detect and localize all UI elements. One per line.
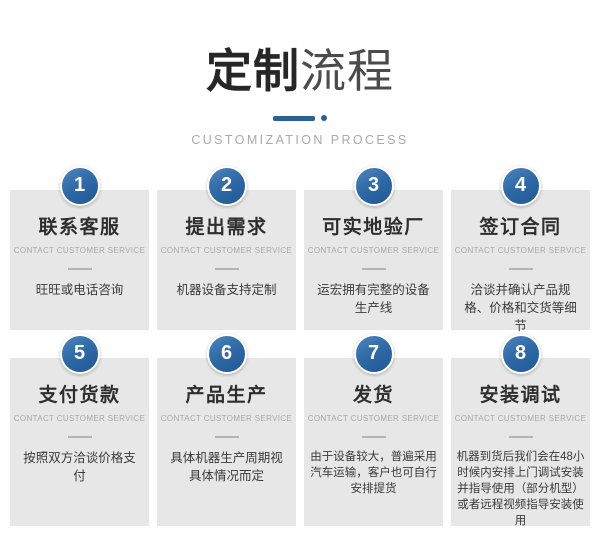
- step-number-badge: 3: [354, 166, 394, 206]
- page-header: 定制流程 CUSTOMIZATION PROCESS: [0, 0, 600, 147]
- process-step-card-2: 2 提出需求 CONTACT CUSTOMER SERVICE 机器设备支持定制: [157, 190, 296, 330]
- step-rule: [509, 436, 533, 438]
- page-title: 定制流程: [0, 42, 600, 100]
- step-rule: [215, 436, 239, 438]
- step-number-badge: 2: [207, 166, 247, 206]
- divider-bar-icon: [273, 116, 315, 121]
- step-body: 洽谈并确认产品规格、价格和交货等细节: [451, 281, 590, 335]
- step-body: 按照双方洽谈价格支付: [10, 449, 149, 485]
- step-en-label: CONTACT CUSTOMER SERVICE: [10, 245, 149, 256]
- step-number-badge: 1: [60, 166, 100, 206]
- customization-process-banner: 定制流程 CUSTOMIZATION PROCESS 1 联系客服 CONTAC…: [0, 0, 600, 539]
- step-en-label: CONTACT CUSTOMER SERVICE: [451, 245, 590, 256]
- step-rule: [509, 268, 533, 270]
- process-step-card-8: 8 安装调试 CONTACT CUSTOMER SERVICE 机器到货后我们会…: [451, 358, 590, 526]
- step-rule: [362, 436, 386, 438]
- process-step-card-4: 4 签订合同 CONTACT CUSTOMER SERVICE 洽谈并确认产品规…: [451, 190, 590, 330]
- step-en-label: CONTACT CUSTOMER SERVICE: [10, 413, 149, 424]
- step-body: 机器设备支持定制: [157, 281, 296, 299]
- step-number-badge: 4: [501, 166, 541, 206]
- step-rule: [215, 268, 239, 270]
- process-step-card-7: 7 发货 CONTACT CUSTOMER SERVICE 由于设备较大，普遍采…: [304, 358, 443, 526]
- page-subtitle: CUSTOMIZATION PROCESS: [0, 133, 600, 147]
- step-body: 旺旺或电话咨询: [10, 281, 149, 299]
- step-number-badge: 8: [501, 334, 541, 374]
- step-title: 联系客服: [10, 216, 149, 240]
- step-body: 机器到货后我们会在48小时候内安排上门调试安装并指导使用（部分机型）或者远程视频…: [451, 449, 590, 529]
- step-title: 发货: [304, 384, 443, 408]
- step-en-label: CONTACT CUSTOMER SERVICE: [157, 413, 296, 424]
- page-title-strong: 定制: [206, 45, 300, 97]
- step-en-label: CONTACT CUSTOMER SERVICE: [451, 413, 590, 424]
- step-body: 由于设备较大，普遍采用汽车运输，客户也可自行安排提货: [304, 449, 443, 497]
- step-title: 可实地验厂: [304, 216, 443, 240]
- step-title: 签订合同: [451, 216, 590, 240]
- step-rule: [68, 268, 92, 270]
- step-number-badge: 5: [60, 334, 100, 374]
- step-title: 安装调试: [451, 384, 590, 408]
- step-en-label: CONTACT CUSTOMER SERVICE: [157, 245, 296, 256]
- process-step-card-6: 6 产品生产 CONTACT CUSTOMER SERVICE 具体机器生产周期…: [157, 358, 296, 526]
- step-rule: [68, 436, 92, 438]
- header-divider: [0, 114, 600, 122]
- step-number-badge: 6: [207, 334, 247, 374]
- step-body: 具体机器生产周期视具体情况而定: [157, 449, 296, 485]
- divider-dot-icon: [321, 115, 327, 121]
- step-en-label: CONTACT CUSTOMER SERVICE: [304, 245, 443, 256]
- process-step-card-5: 5 支付货款 CONTACT CUSTOMER SERVICE 按照双方洽谈价格…: [10, 358, 149, 526]
- step-title: 支付货款: [10, 384, 149, 408]
- process-step-card-1: 1 联系客服 CONTACT CUSTOMER SERVICE 旺旺或电话咨询: [10, 190, 149, 330]
- process-step-card-3: 3 可实地验厂 CONTACT CUSTOMER SERVICE 运宏拥有完整的…: [304, 190, 443, 330]
- page-title-light: 流程: [300, 45, 394, 97]
- step-number-badge: 7: [354, 334, 394, 374]
- step-title: 提出需求: [157, 216, 296, 240]
- step-en-label: CONTACT CUSTOMER SERVICE: [304, 413, 443, 424]
- step-rule: [362, 268, 386, 270]
- step-body: 运宏拥有完整的设备生产线: [304, 281, 443, 317]
- step-title: 产品生产: [157, 384, 296, 408]
- process-step-grid: 1 联系客服 CONTACT CUSTOMER SERVICE 旺旺或电话咨询 …: [10, 190, 590, 526]
